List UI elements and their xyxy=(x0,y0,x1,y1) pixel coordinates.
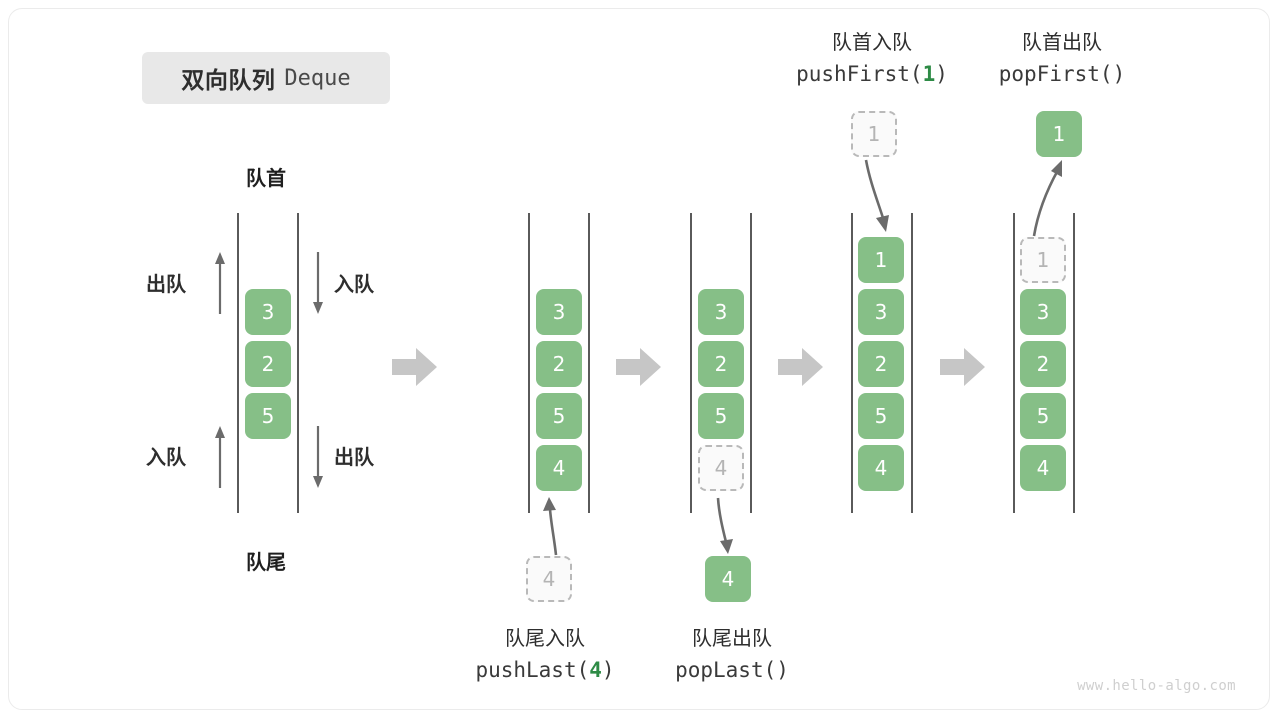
title-badge: 双向队列 Deque xyxy=(142,52,390,104)
arrow-down-rear xyxy=(310,426,326,488)
deque-cell: 1 xyxy=(1020,237,1066,283)
deque-rail-left-1 xyxy=(237,213,239,513)
caption-push-last-cn: 队尾入队 xyxy=(445,624,645,654)
curved-arrow-pop-last xyxy=(710,498,740,556)
deque-rail-left-4 xyxy=(851,213,853,513)
flow-arrow-icon-3 xyxy=(778,348,824,388)
deque-rail-left-2 xyxy=(528,213,530,513)
label-enqueue-rear: 入队 xyxy=(146,441,186,470)
diagram-canvas: 双向队列 Deque 队首 队尾 325 出队 入队 入队 出队 3254 4 xyxy=(0,0,1280,720)
floating-cell-pop-first-result: 1 xyxy=(1036,111,1082,157)
deque-cell: 2 xyxy=(1020,341,1066,387)
label-rear: 队尾 xyxy=(218,546,314,575)
arrow-up-rear xyxy=(212,426,228,488)
curved-arrow-push-last xyxy=(540,495,570,557)
flow-arrow-icon-2 xyxy=(616,348,662,388)
watermark: www.hello-algo.com xyxy=(1077,678,1236,694)
caption-push-last: 队尾入队 pushLast(4) xyxy=(445,624,645,686)
arrow-down-front xyxy=(310,252,326,314)
deque-cell: 4 xyxy=(858,445,904,491)
title-english: Deque xyxy=(284,66,350,91)
deque-cell: 3 xyxy=(858,289,904,335)
caption-push-first: 队首入队 pushFirst(1) xyxy=(772,28,972,90)
deque-cell: 2 xyxy=(245,341,291,387)
deque-cell: 2 xyxy=(858,341,904,387)
arg-push-first: 1 xyxy=(923,62,936,86)
title-chinese: 双向队列 xyxy=(181,61,275,95)
deque-rail-right-5 xyxy=(1073,213,1075,513)
label-dequeue-rear: 出队 xyxy=(334,441,374,470)
arg-push-last: 4 xyxy=(589,658,602,682)
caption-pop-last-code: popLast() xyxy=(632,654,832,686)
deque-cell: 5 xyxy=(858,393,904,439)
caption-push-first-code: pushFirst(1) xyxy=(772,58,972,90)
deque-cell: 4 xyxy=(536,445,582,491)
caption-pop-first: 队首出队 popFirst() xyxy=(962,28,1162,90)
deque-cell: 5 xyxy=(536,393,582,439)
deque-cell: 4 xyxy=(698,445,744,491)
deque-cell: 3 xyxy=(245,289,291,335)
curved-arrow-push-first xyxy=(860,160,894,234)
deque-cell: 3 xyxy=(1020,289,1066,335)
deque-cell: 2 xyxy=(536,341,582,387)
deque-rail-right-1 xyxy=(297,213,299,513)
floating-cell-push-first-source: 1 xyxy=(851,111,897,157)
caption-push-last-code: pushLast(4) xyxy=(445,654,645,686)
deque-cell: 4 xyxy=(1020,445,1066,491)
deque-cell: 2 xyxy=(698,341,744,387)
deque-rail-right-3 xyxy=(750,213,752,513)
deque-cell: 3 xyxy=(698,289,744,335)
label-dequeue-front: 出队 xyxy=(146,268,186,297)
floating-cell-push-last-source: 4 xyxy=(526,556,572,602)
arrow-up-front xyxy=(212,252,228,314)
deque-cell: 3 xyxy=(536,289,582,335)
caption-pop-last: 队尾出队 popLast() xyxy=(632,624,832,686)
curved-arrow-pop-first xyxy=(1028,160,1068,238)
flow-arrow-icon-4 xyxy=(940,348,986,388)
deque-cell: 1 xyxy=(858,237,904,283)
label-enqueue-front: 入队 xyxy=(334,268,374,297)
deque-cell: 5 xyxy=(698,393,744,439)
deque-rail-right-4 xyxy=(911,213,913,513)
deque-rail-left-3 xyxy=(690,213,692,513)
caption-pop-first-cn: 队首出队 xyxy=(962,28,1162,58)
caption-pop-last-cn: 队尾出队 xyxy=(632,624,832,654)
deque-rail-left-5 xyxy=(1013,213,1015,513)
floating-cell-pop-last-result: 4 xyxy=(705,556,751,602)
label-front: 队首 xyxy=(218,162,314,191)
flow-arrow-icon-1 xyxy=(392,348,438,388)
deque-rail-right-2 xyxy=(588,213,590,513)
caption-push-first-cn: 队首入队 xyxy=(772,28,972,58)
deque-cell: 5 xyxy=(1020,393,1066,439)
caption-pop-first-code: popFirst() xyxy=(962,58,1162,90)
deque-cell: 5 xyxy=(245,393,291,439)
